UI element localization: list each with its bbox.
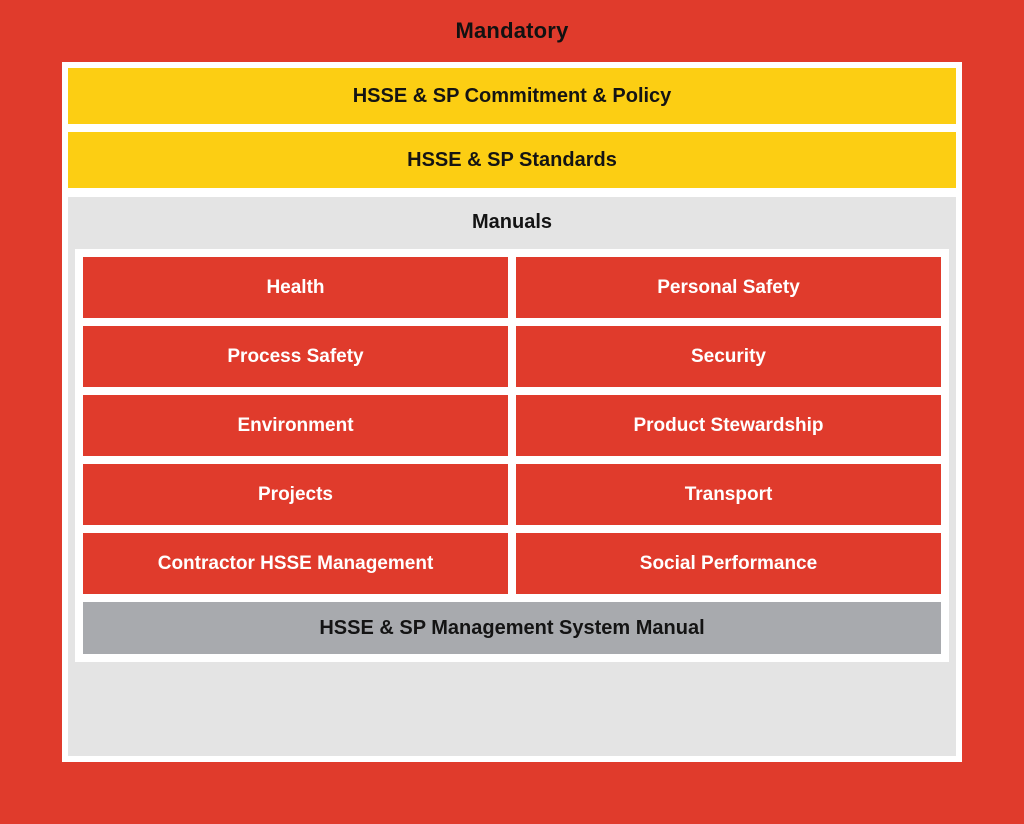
manuals-grid: Health Personal Safety Process Safety Se… bbox=[83, 257, 941, 594]
manual-box-personal-safety: Personal Safety bbox=[516, 257, 941, 318]
manual-box-contractor-hsse-management: Contractor HSSE Management bbox=[83, 533, 508, 594]
manuals-panel: Manuals Health Personal Safety Process S… bbox=[68, 197, 956, 756]
manual-box-product-stewardship: Product Stewardship bbox=[516, 395, 941, 456]
page-title: Mandatory bbox=[0, 18, 1024, 44]
manual-box-social-performance: Social Performance bbox=[516, 533, 941, 594]
manuals-heading: Manuals bbox=[68, 211, 956, 234]
manual-box-environment: Environment bbox=[83, 395, 508, 456]
framework-frame: HSSE & SP Commitment & Policy HSSE & SP … bbox=[62, 62, 962, 762]
manual-box-process-safety: Process Safety bbox=[83, 326, 508, 387]
hsse-sp-framework-diagram: Mandatory HSSE & SP Commitment & Policy … bbox=[0, 0, 1024, 824]
system-manual-bar: HSSE & SP Management System Manual bbox=[83, 602, 941, 654]
policy-bar-standards: HSSE & SP Standards bbox=[68, 132, 956, 188]
manual-box-transport: Transport bbox=[516, 464, 941, 525]
manuals-inner-panel: Health Personal Safety Process Safety Se… bbox=[75, 249, 949, 662]
policy-bar-commitment: HSSE & SP Commitment & Policy bbox=[68, 68, 956, 124]
manual-box-projects: Projects bbox=[83, 464, 508, 525]
manual-box-health: Health bbox=[83, 257, 508, 318]
manual-box-security: Security bbox=[516, 326, 941, 387]
